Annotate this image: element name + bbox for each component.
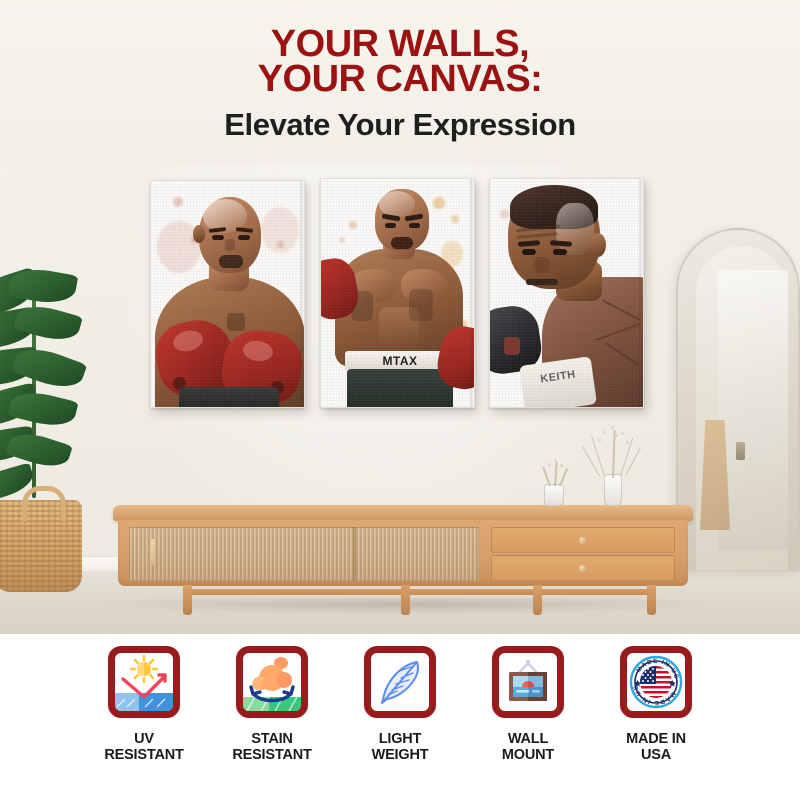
headline-line-2: YOUR CANVAS: — [258, 62, 543, 97]
feature-stain-resistant: STAIN RESISTANT — [208, 646, 336, 763]
sideboard-drawer-knob-top[interactable] — [579, 537, 586, 544]
sideboard-leg — [401, 585, 410, 615]
basket-handle — [22, 486, 66, 521]
tall-glass-vase — [604, 474, 622, 506]
wooden-sideboard — [113, 505, 693, 600]
light-weight-icon — [364, 646, 436, 718]
small-glass-vase — [544, 484, 564, 506]
headline-band: YOUR WALLS, YOUR CANVAS: Elevate Your Ex… — [0, 0, 800, 165]
canvas-panel-right: KEITH — [489, 178, 644, 408]
sideboard-door-divider — [353, 527, 356, 581]
sideboard-rail — [183, 589, 653, 595]
arched-floor-mirror — [676, 228, 800, 572]
woven-basket — [0, 500, 82, 592]
product-marketing-image: MTAX — [0, 0, 800, 800]
sideboard-top — [113, 505, 693, 521]
feature-made-in-usa: MADE IN USA MADE IN USA MADE IN USA — [592, 646, 720, 763]
headline-subtitle: Elevate Your Expression — [224, 104, 575, 146]
wall-mount-icon — [492, 646, 564, 718]
feature-strip: UV RESISTANT — [0, 634, 800, 800]
small-vase-twigs — [545, 458, 567, 486]
made-in-usa-icon: MADE IN USA MADE IN USA — [620, 646, 692, 718]
feature-label: UV RESISTANT — [104, 731, 183, 763]
feature-label: STAIN RESISTANT — [232, 731, 311, 763]
waistband-text: MTAX — [365, 354, 435, 368]
sideboard-leg — [533, 585, 542, 615]
stain-resistant-icon — [236, 646, 308, 718]
feature-label: WALL MOUNT — [502, 731, 554, 763]
feature-uv-resistant: UV RESISTANT — [80, 646, 208, 763]
feature-label: MADE IN USA — [626, 731, 686, 763]
canvas-panel-left — [150, 180, 305, 408]
sideboard-glass-doors — [129, 527, 479, 581]
mirror-hardware — [736, 442, 745, 460]
feature-label: LIGHT WEIGHT — [372, 731, 429, 763]
feature-light-weight: LIGHT WEIGHT — [336, 646, 464, 763]
sideboard-drawer-knob-bottom[interactable] — [579, 565, 586, 572]
tall-vase-twigs — [596, 424, 632, 478]
feature-wall-mount: WALL MOUNT — [464, 646, 592, 763]
headline-line-1: YOUR WALLS, — [271, 27, 529, 62]
sideboard-door-handle[interactable] — [151, 539, 155, 565]
sideboard-leg — [183, 585, 192, 615]
sideboard-leg — [647, 585, 656, 615]
fiddle-leaf-plant — [0, 268, 110, 518]
uv-resistant-icon — [108, 646, 180, 718]
canvas-panel-center: MTAX — [320, 178, 475, 408]
